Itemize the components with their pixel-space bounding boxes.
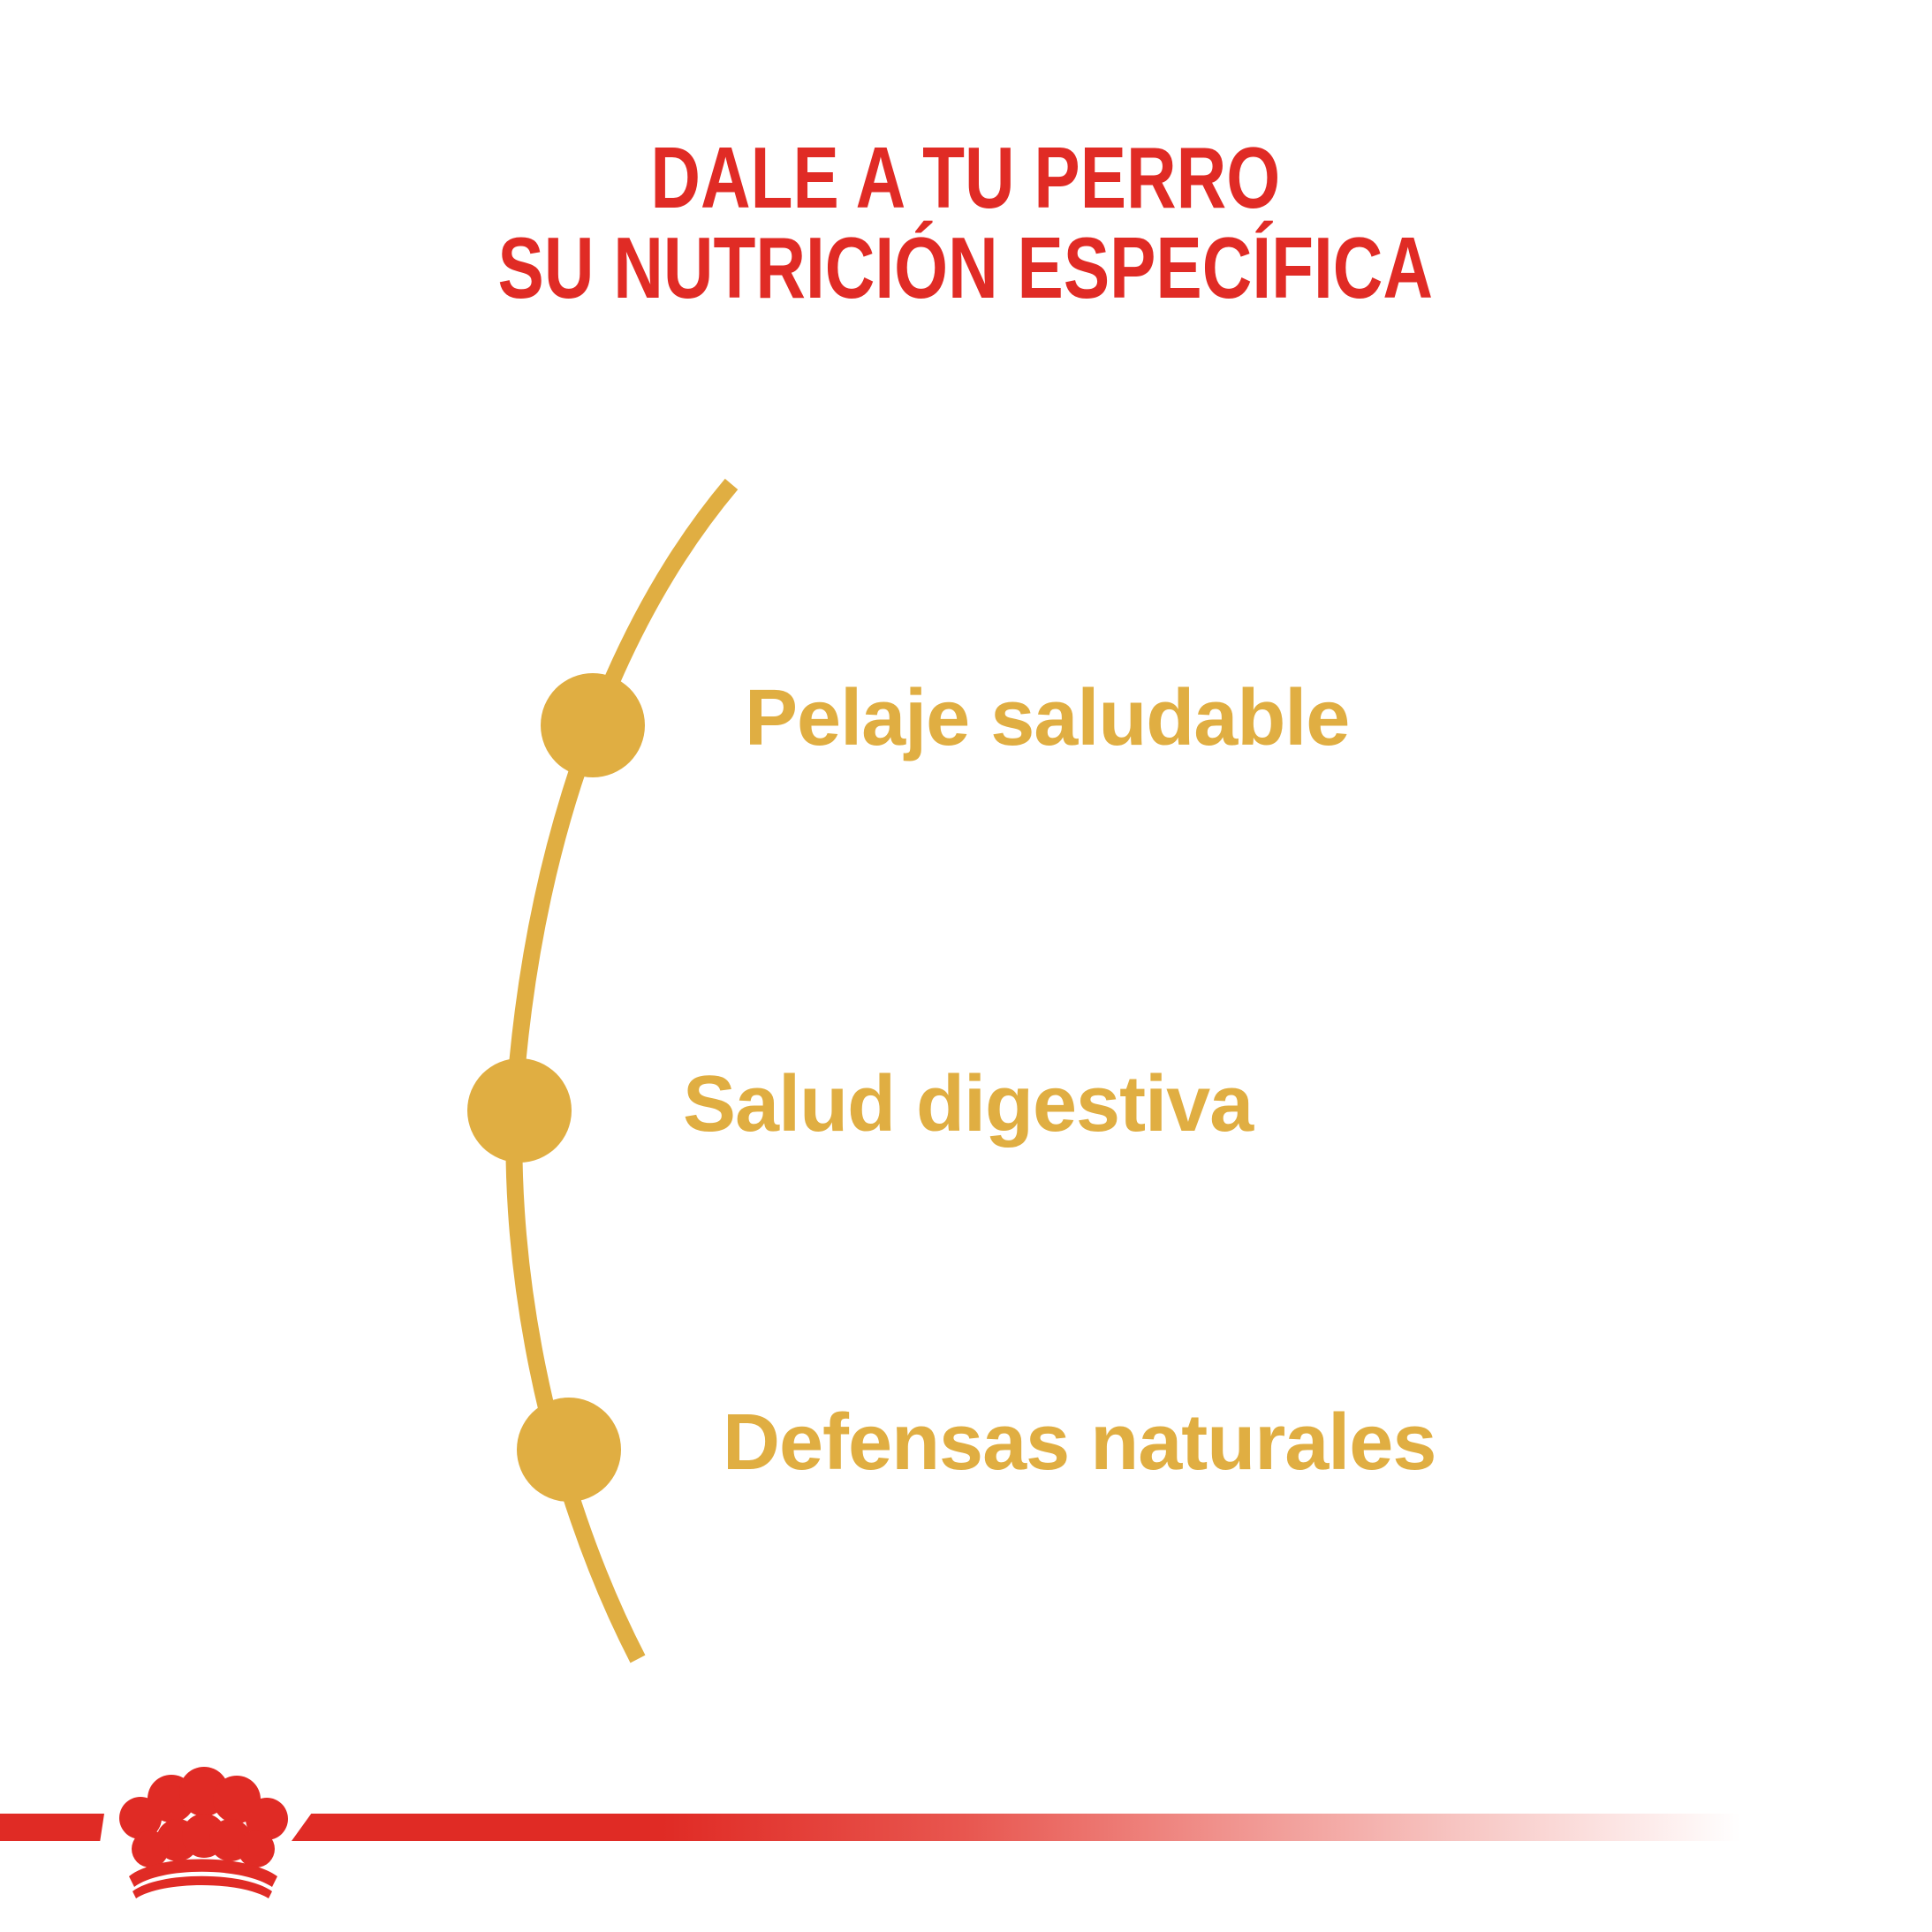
headline-line-2: SU NUTRICIÓN ESPECÍFICA (193, 223, 1739, 313)
benefit-node-3 (517, 1398, 621, 1502)
benefit-label-pelaje-saludable: Pelaje saludable (745, 678, 1349, 758)
benefit-node-2 (467, 1058, 572, 1163)
benefit-label-defensas-naturales: Defensas naturales (723, 1403, 1436, 1482)
headline-line-1: DALE A TU PERRO (193, 133, 1739, 223)
footer-bar-right-segment (292, 1814, 1932, 1841)
footer-bar-left-segment (0, 1814, 104, 1841)
footer-band: Royal Canin crown logo (0, 1723, 1932, 1932)
footer-logo-label: Royal Canin crown logo (0, 1723, 1, 1724)
poster-canvas: DALE A TU PERRO SU NUTRICIÓN ESPECÍFICA … (0, 0, 1932, 1932)
benefit-node-1 (541, 673, 645, 777)
crown-icon (104, 1758, 293, 1899)
benefit-label-salud-digestiva: Salud digestiva (683, 1064, 1253, 1144)
page-title: DALE A TU PERRO SU NUTRICIÓN ESPECÍFICA (193, 133, 1739, 313)
